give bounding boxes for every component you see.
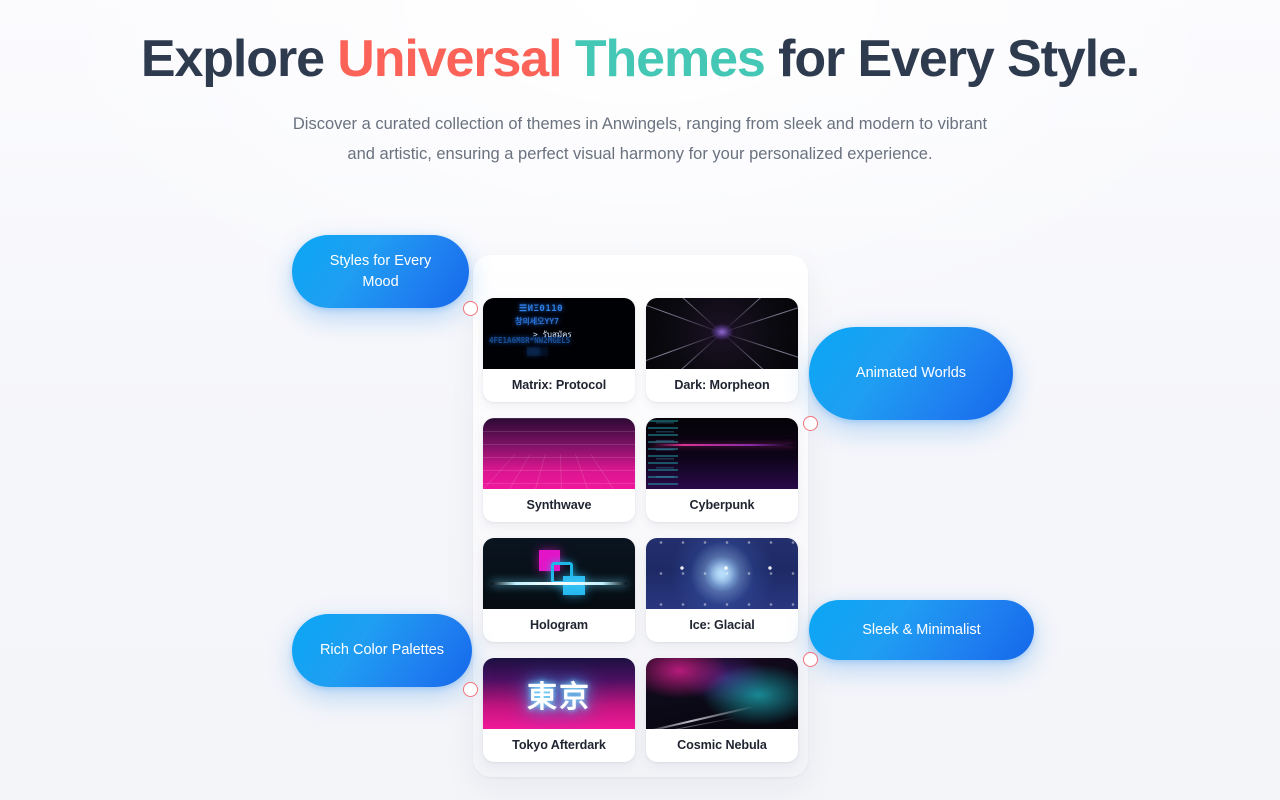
matrix-glyph-line-2: 창의세오YY7 <box>515 316 559 327</box>
theme-card-dark-morpheon[interactable]: Dark: Morpheon <box>646 298 798 402</box>
theme-thumbnail-ice-glacial <box>646 538 798 609</box>
feature-pill-animated-worlds[interactable]: Animated Worlds <box>809 327 1013 420</box>
theme-card-synthwave[interactable]: Synthwave <box>483 418 635 522</box>
theme-thumbnail-synthwave <box>483 418 635 489</box>
scanline-ticks-icon <box>656 422 674 481</box>
theme-thumbnail-hologram <box>483 538 635 609</box>
theme-card-label: Ice: Glacial <box>646 609 798 642</box>
page-title-part-universal: Universal <box>337 30 575 88</box>
theme-card-label: Cosmic Nebula <box>646 729 798 762</box>
theme-card-label: Synthwave <box>483 489 635 522</box>
connector-dot-icon <box>463 682 478 697</box>
page-title: Explore Universal Themes for Every Style… <box>0 26 1280 92</box>
theme-card-cosmic-nebula[interactable]: Cosmic Nebula <box>646 658 798 762</box>
theme-thumbnail-tokyo-afterdark: 東京 <box>483 658 635 729</box>
theme-card-ice-glacial[interactable]: Ice: Glacial <box>646 538 798 642</box>
theme-thumbnail-cosmic-nebula <box>646 658 798 729</box>
light-beam-icon <box>722 298 798 333</box>
beam-core-icon <box>711 324 733 340</box>
bokeh-dots-icon <box>646 538 798 609</box>
theme-card-label: Matrix: Protocol <box>483 369 635 402</box>
light-beam-icon <box>646 332 722 369</box>
feature-pill-label: Sleek & Minimalist <box>862 620 980 641</box>
theme-card-label: Hologram <box>483 609 635 642</box>
connector-dot-icon <box>463 301 478 316</box>
theme-thumbnail-dark-morpheon <box>646 298 798 369</box>
theme-thumbnail-matrix-protocol: ☰ИΞ0110 창의세오YY7 > รับสมัคร 4FE1A6M8R*NW2… <box>483 298 635 369</box>
page-title-part-style: for Every Style. <box>765 30 1139 88</box>
cyan-square-icon <box>563 576 585 595</box>
theme-thumbnail-cyberpunk <box>646 418 798 489</box>
feature-pill-label: Styles for Every Mood <box>310 251 451 293</box>
hologram-beam-icon <box>491 582 627 585</box>
light-beam-icon <box>722 332 798 369</box>
theme-card-label: Dark: Morpheon <box>646 369 798 402</box>
connector-dot-icon <box>803 416 818 431</box>
theme-card-tokyo-afterdark[interactable]: 東京 Tokyo Afterdark <box>483 658 635 762</box>
feature-pill-rich-color-palettes[interactable]: Rich Color Palettes <box>292 614 472 687</box>
themes-panel: ☰ИΞ0110 창의세오YY7 > รับสมัคร 4FE1A6M8R*NW2… <box>473 255 808 777</box>
feature-pill-label: Rich Color Palettes <box>320 640 444 661</box>
matrix-glyph-line-4: 4FE1A6M8R*NW2MGEL5 <box>489 336 570 345</box>
light-beam-icon <box>722 332 798 369</box>
page-title-part-explore: Explore <box>141 30 337 88</box>
theme-card-matrix-protocol[interactable]: ☰ИΞ0110 창의세오YY7 > รับสมัคร 4FE1A6M8R*NW2… <box>483 298 635 402</box>
matrix-glyph-line-5: ▒▒▒░░ <box>527 348 548 356</box>
theme-card-label: Tokyo Afterdark <box>483 729 635 762</box>
feature-pill-styles-for-every-mood[interactable]: Styles for Every Mood <box>292 235 469 308</box>
neon-streak-icon <box>652 444 794 446</box>
feature-pill-label: Animated Worlds <box>856 363 966 384</box>
tokyo-kanji-sign: 東京 <box>483 672 635 716</box>
page-title-part-themes: Themes <box>575 30 765 88</box>
theme-showcase-page: Explore Universal Themes for Every Style… <box>0 0 1280 800</box>
theme-card-hologram[interactable]: Hologram <box>483 538 635 642</box>
themes-grid: ☰ИΞ0110 창의세오YY7 > รับสมัคร 4FE1A6M8R*NW2… <box>483 298 798 762</box>
matrix-glyph-line-1: ☰ИΞ0110 <box>519 304 563 314</box>
theme-card-label: Cyberpunk <box>646 489 798 522</box>
connector-dot-icon <box>803 652 818 667</box>
feature-pill-sleek-and-minimalist[interactable]: Sleek & Minimalist <box>809 600 1034 660</box>
theme-card-cyberpunk[interactable]: Cyberpunk <box>646 418 798 522</box>
page-subtitle: Discover a curated collection of themes … <box>290 110 990 169</box>
light-beam-icon <box>646 332 722 369</box>
